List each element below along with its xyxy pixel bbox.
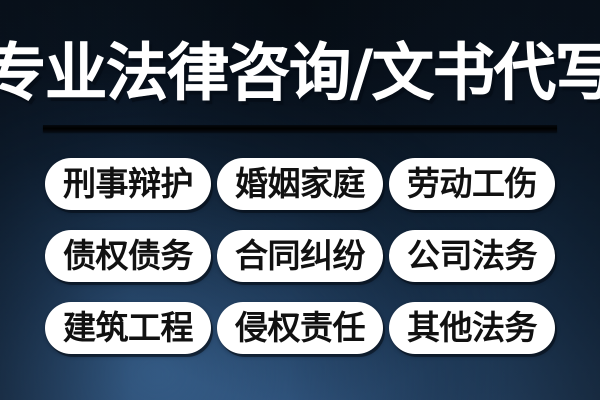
- legal-services-poster: 专业法律咨询/文书代写 刑事辩护 婚姻家庭 劳动工伤 债权债务 合同纠纷 公司法…: [0, 0, 600, 400]
- service-pill-tort-liability[interactable]: 侵权责任: [217, 302, 383, 354]
- service-pill-other-legal[interactable]: 其他法务: [389, 302, 555, 354]
- service-pill-labor-injury[interactable]: 劳动工伤: [389, 158, 555, 210]
- service-pill-label: 婚姻家庭: [235, 167, 365, 200]
- service-pill-label: 债权债务: [63, 239, 193, 272]
- poster-headline: 专业法律咨询/文书代写: [0, 30, 600, 116]
- service-pill-label: 合同纠纷: [235, 239, 365, 272]
- service-pill-contract-dispute[interactable]: 合同纠纷: [217, 230, 383, 282]
- service-pill-label: 刑事辩护: [63, 167, 193, 200]
- service-pill-construction-engineering[interactable]: 建筑工程: [45, 302, 211, 354]
- service-pill-marriage-family[interactable]: 婚姻家庭: [217, 158, 383, 210]
- service-pill-corporate-legal[interactable]: 公司法务: [389, 230, 555, 282]
- service-pill-label: 建筑工程: [63, 311, 193, 344]
- headline-divider: [43, 125, 557, 132]
- poster-content: 专业法律咨询/文书代写 刑事辩护 婚姻家庭 劳动工伤 债权债务 合同纠纷 公司法…: [0, 0, 600, 400]
- service-pill-grid: 刑事辩护 婚姻家庭 劳动工伤 债权债务 合同纠纷 公司法务 建筑工程 侵权责任: [45, 158, 555, 354]
- service-pill-label: 侵权责任: [235, 311, 365, 344]
- service-pill-label: 劳动工伤: [407, 167, 537, 200]
- service-pill-criminal-defense[interactable]: 刑事辩护: [45, 158, 211, 210]
- service-pill-label: 公司法务: [407, 239, 537, 272]
- service-pill-label: 其他法务: [407, 311, 537, 344]
- service-pill-creditor-debt[interactable]: 债权债务: [45, 230, 211, 282]
